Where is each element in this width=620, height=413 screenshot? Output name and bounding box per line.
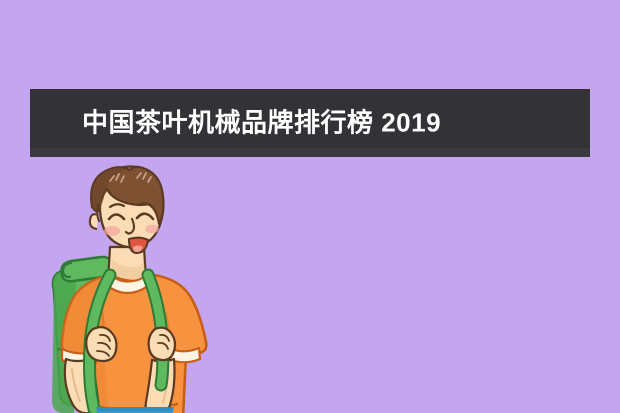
title-banner: 中国茶叶机械品牌排行榜 2019 <box>30 89 590 157</box>
page-title: 中国茶叶机械品牌排行榜 2019 <box>82 109 441 135</box>
student-illustration <box>38 163 228 413</box>
head <box>90 167 164 253</box>
jeans <box>96 407 174 413</box>
title-banner-bottom-strip <box>30 148 590 157</box>
right-hand <box>149 328 175 360</box>
left-hand <box>86 327 116 361</box>
page-canvas: 中国茶叶机械品牌排行榜 2019 <box>0 0 620 413</box>
